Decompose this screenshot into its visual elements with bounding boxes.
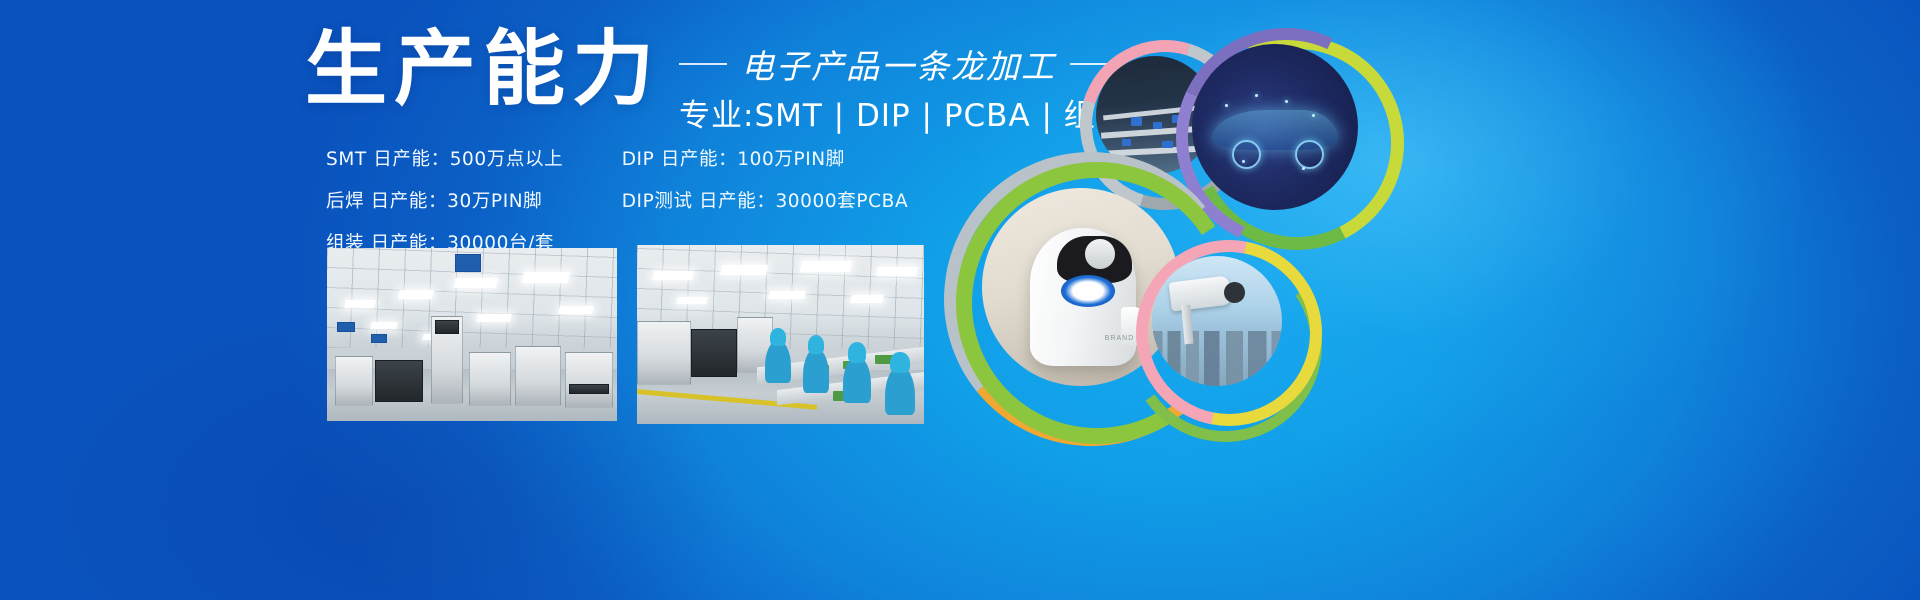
worker bbox=[803, 349, 829, 393]
workshop-sign bbox=[371, 334, 387, 343]
ceiling-lamp bbox=[522, 272, 570, 283]
production-machine bbox=[335, 356, 373, 406]
air-fryer-knob bbox=[1085, 239, 1115, 269]
spec-row: DIP 日产能： 100万PIN脚 bbox=[622, 145, 909, 171]
capacity-spec-table: SMT 日产能： 500万点以上 后焊 日产能： 30万PIN脚 组装 日产能：… bbox=[326, 145, 908, 255]
worker bbox=[765, 341, 791, 383]
workshop-sign bbox=[337, 322, 355, 332]
smt-workshop-photo bbox=[327, 248, 617, 421]
city-skyline bbox=[1152, 331, 1282, 386]
ceiling-lamp bbox=[800, 261, 852, 272]
ceiling-lamp bbox=[676, 297, 707, 304]
circle-gallery: BRAND bbox=[940, 12, 1420, 432]
car-wheel bbox=[1295, 140, 1324, 169]
ceiling-lamp bbox=[652, 271, 694, 280]
ceiling-lamp bbox=[768, 291, 806, 299]
machine-display bbox=[435, 320, 459, 334]
ceiling-lamp bbox=[850, 295, 884, 303]
spec-value: 500万点以上 bbox=[450, 145, 580, 171]
worker-cap bbox=[848, 342, 866, 362]
ceiling-lamp bbox=[558, 306, 594, 314]
ceiling-lamp bbox=[476, 314, 512, 322]
spec-label: 后焊 日产能： bbox=[326, 187, 447, 213]
production-capacity-banner: 生产能力 电子产品一条龙加工 专业:SMT | DIP | PCBA | 组装 … bbox=[0, 0, 1920, 600]
page-title: 生产能力 bbox=[305, 28, 661, 112]
circuit-component bbox=[1122, 139, 1131, 146]
tech-particle bbox=[1312, 114, 1315, 117]
ceiling-lamp bbox=[720, 265, 768, 275]
city-scene bbox=[1152, 256, 1282, 386]
spec-row: 后焊 日产能： 30万PIN脚 bbox=[326, 187, 580, 213]
ceiling-lamp bbox=[398, 290, 434, 299]
spec-label: DIP 日产能： bbox=[622, 145, 738, 171]
assembly-line-photo bbox=[637, 245, 924, 424]
ceiling-lamp bbox=[454, 278, 498, 288]
tech-particle bbox=[1242, 160, 1245, 163]
spec-row: DIP测试 日产能： 30000套PCBA bbox=[622, 187, 909, 213]
automotive-scene bbox=[1192, 44, 1358, 210]
ceiling-lamp bbox=[344, 300, 376, 308]
spec-row: SMT 日产能： 500万点以上 bbox=[326, 145, 580, 171]
spec-column-right: DIP 日产能： 100万PIN脚 DIP测试 日产能： 30000套PCBA bbox=[622, 145, 909, 255]
worker bbox=[843, 357, 871, 403]
production-machine bbox=[565, 352, 613, 408]
ceiling-lamp bbox=[876, 267, 918, 276]
camera-body bbox=[1169, 276, 1232, 312]
worker bbox=[885, 367, 915, 415]
tech-particle bbox=[1302, 167, 1305, 170]
worker-cap bbox=[808, 335, 825, 354]
camera-mount bbox=[1182, 305, 1194, 345]
production-machine bbox=[691, 329, 737, 377]
circuit-component bbox=[1162, 141, 1173, 148]
tech-particle bbox=[1285, 100, 1288, 103]
worker-cap bbox=[770, 328, 787, 346]
spec-value: 100万PIN脚 bbox=[737, 145, 845, 171]
spec-value: 30000套PCBA bbox=[775, 187, 908, 213]
production-machine bbox=[637, 321, 691, 385]
circuit-component bbox=[1131, 117, 1142, 125]
production-machine bbox=[375, 360, 423, 402]
rule-left-icon bbox=[679, 63, 727, 65]
tech-particle bbox=[1225, 104, 1228, 107]
tech-particle bbox=[1255, 94, 1258, 97]
car-wheel bbox=[1232, 140, 1261, 169]
automotive-tech-circle bbox=[1192, 44, 1358, 210]
air-fryer-dial bbox=[1061, 275, 1114, 307]
spec-column-left: SMT 日产能： 500万点以上 后焊 日产能： 30万PIN脚 组装 日产能：… bbox=[326, 145, 580, 255]
spec-label: SMT 日产能： bbox=[326, 145, 450, 171]
production-machine bbox=[469, 352, 511, 406]
production-machine bbox=[515, 346, 561, 406]
spec-value: 30万PIN脚 bbox=[447, 187, 577, 213]
workshop-sign bbox=[455, 254, 481, 272]
circuit-component bbox=[1153, 122, 1162, 129]
machine-panel bbox=[569, 384, 609, 394]
spec-label: DIP测试 日产能： bbox=[622, 187, 776, 213]
worker-cap bbox=[890, 352, 909, 373]
ceiling-lamp bbox=[370, 322, 397, 329]
security-camera-circle bbox=[1152, 256, 1282, 386]
